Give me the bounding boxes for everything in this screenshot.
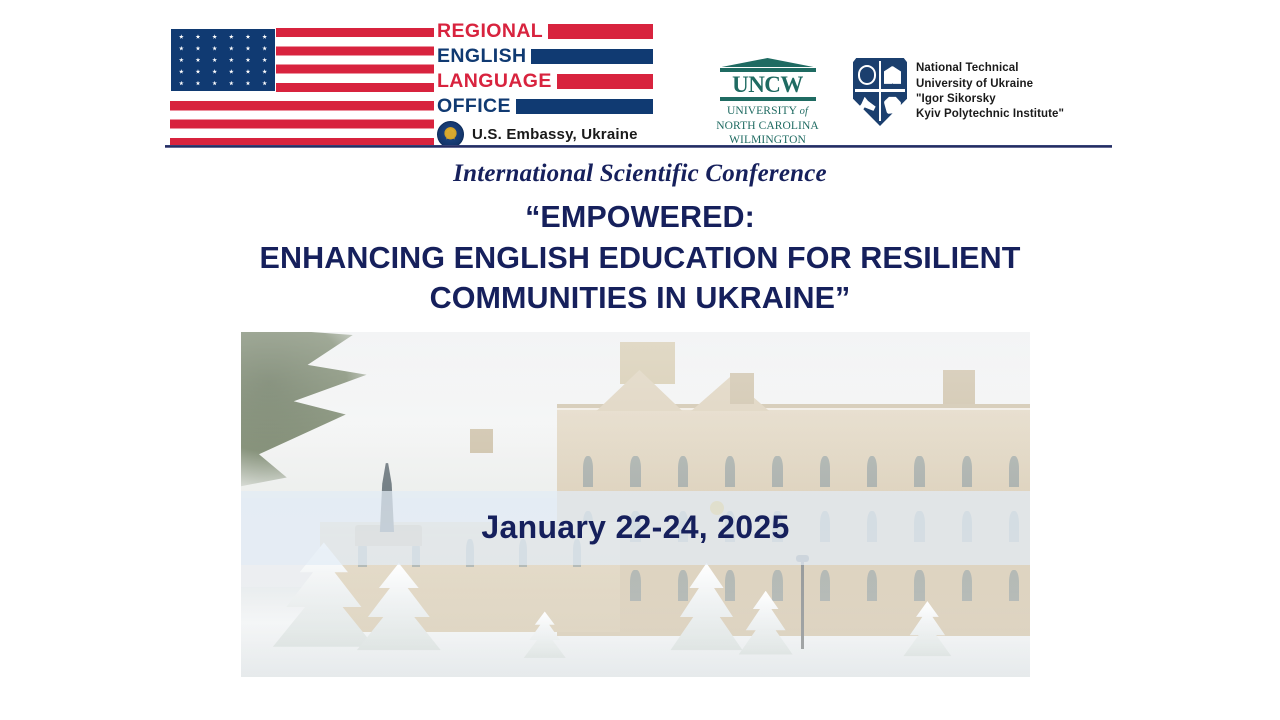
building-window [678,456,688,487]
star-icon [245,81,250,86]
uncw-subtext-line1: UNIVERSITY of [700,104,835,119]
star-icon [245,34,250,39]
star-icon [245,57,250,62]
star-icon [245,46,250,51]
page-title: “EMPOWERED: ENHANCING ENGLISH EDUCATION … [140,197,1140,319]
building-window [914,570,924,601]
venue-photo: January 22-24, 2025 [241,332,1030,677]
embassy-lockup: U.S. Embassy, Ukraine [437,121,638,148]
relo-line-english: ENGLISH [437,45,653,68]
relo-logo: REGIONAL ENGLISH LANGUAGE OFFICE [165,20,653,146]
building-window [914,456,924,487]
star-icon [195,57,200,62]
building-window [725,456,735,487]
uncw-wordmark: UNCW [700,73,835,96]
star-icon [229,81,234,86]
relo-block-red [548,24,653,39]
relo-word-language: LANGUAGE [437,72,552,92]
conference-subtitle: International Scientific Conference [0,160,1280,188]
star-icon [195,46,200,51]
gear-icon [858,65,876,84]
star-icon [195,69,200,74]
uncw-university-word: UNIVERSITY [727,105,797,117]
star-icon [262,81,267,86]
uncw-base-icon [720,97,816,101]
us-flag-icon [170,28,434,147]
star-icon [212,69,217,74]
kpi-name-line3: "Igor Sikorsky [916,92,1064,107]
building-window [772,456,782,487]
building-chimney [470,429,494,453]
building-window [1009,570,1019,601]
star-icon [195,81,200,86]
date-banner: January 22-24, 2025 [241,491,1030,565]
conference-dates: January 22-24, 2025 [481,509,789,546]
logo-bar: REGIONAL ENGLISH LANGUAGE OFFICE [165,14,1112,138]
star-icon [229,57,234,62]
building-window [583,456,593,487]
star-icon [179,57,184,62]
star-icon [262,69,267,74]
building-window [820,570,830,601]
embassy-text-wrap: U.S. Embassy, Ukraine [472,126,638,144]
star-icon [212,81,217,86]
header-divider [165,145,1112,148]
relo-line-language: LANGUAGE [437,70,653,93]
star-icon [262,57,267,62]
flag-stars [173,31,273,89]
building-window [630,456,640,487]
building-chimney [730,373,754,404]
embassy-label: U.S. Embassy, Ukraine [472,126,638,143]
uncw-subtext-line2: NORTH CAROLINA [700,119,835,133]
kpi-shield-divider-horizontal [855,89,905,92]
conference-title-slide: REGIONAL ENGLISH LANGUAGE OFFICE [0,0,1280,720]
star-icon [212,46,217,51]
relo-line-regional: REGIONAL [437,20,653,43]
uncw-of-word: of [800,106,808,117]
star-icon [229,34,234,39]
kpi-shield-icon [853,58,907,126]
building-window [962,456,972,487]
building-window [1009,456,1019,487]
relo-block-navy [516,99,653,114]
star-icon [179,34,184,39]
star-icon [262,34,267,39]
kpi-name-line2: University of Ukraine [916,77,1064,92]
uncw-logo: UNCW UNIVERSITY of NORTH CAROLINA WILMIN… [700,58,835,130]
star-icon [179,81,184,86]
building-window [867,456,877,487]
star-icon [229,69,234,74]
relo-word-regional: REGIONAL [437,22,543,42]
kpi-name-line1: National Technical [916,61,1064,76]
star-icon [212,57,217,62]
relo-block-red [557,74,653,89]
uncw-subtext: UNIVERSITY of NORTH CAROLINA WILMINGTON [700,104,835,147]
star-icon [229,46,234,51]
star-icon [262,46,267,51]
flag-canton [170,28,276,92]
relo-word-english: ENGLISH [437,47,526,67]
building-window [630,570,640,601]
state-department-seal-icon [437,121,464,148]
star-icon [245,69,250,74]
star-icon [179,46,184,51]
building-window [725,570,735,601]
building-window [820,456,830,487]
building-window-row [564,456,1030,487]
page-title-line2: ENHANCING ENGLISH EDUCATION FOR RESILIEN… [140,238,1140,279]
building-window [867,570,877,601]
building-window [678,570,688,601]
kpi-name-block: National Technical University of Ukraine… [916,61,1064,122]
building-window-row [564,570,1030,601]
building-window [772,570,782,601]
uncw-pediment-icon [722,58,814,67]
star-icon [212,34,217,39]
star-icon [179,69,184,74]
relo-block-navy [531,49,653,64]
kpi-name-line4: Kyiv Polytechnic Institute" [916,107,1064,122]
relo-word-office: OFFICE [437,97,511,117]
building-window [962,570,972,601]
page-title-line3: COMMUNITIES IN UKRAINE” [140,278,1140,319]
page-title-line1: “EMPOWERED: [140,197,1140,238]
building-chimney [943,370,975,405]
kpi-logo: National Technical University of Ukraine… [853,52,1113,132]
star-icon [195,34,200,39]
relo-line-office: OFFICE [437,95,653,118]
street-lamp-icon [801,560,804,650]
